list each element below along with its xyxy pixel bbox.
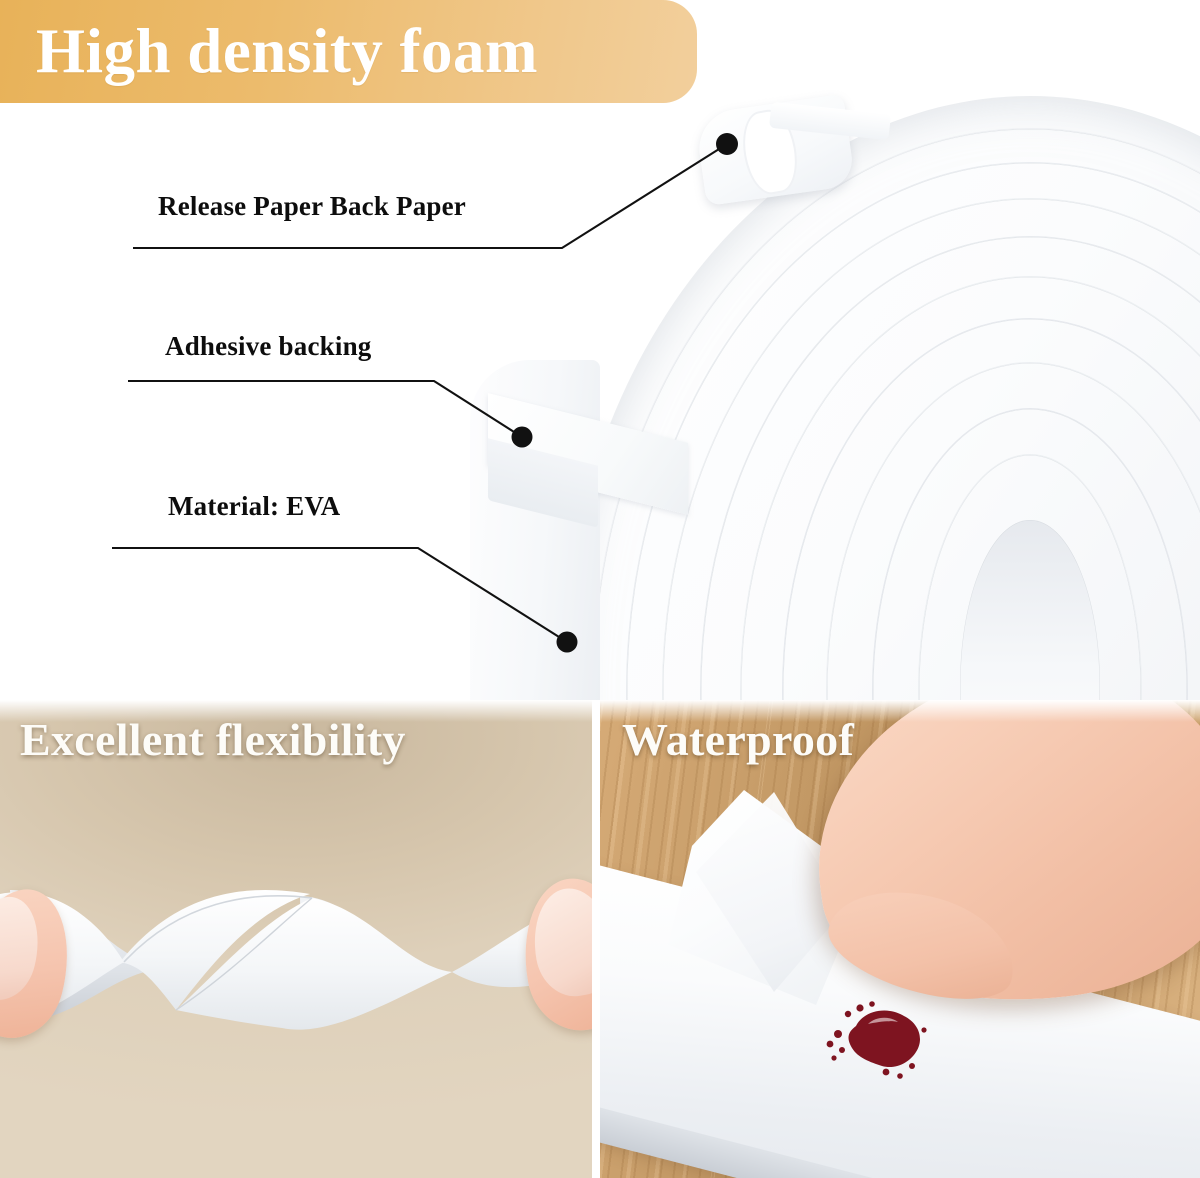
flexibility-panel: Excellent flexibility [0, 700, 592, 1178]
flexibility-panel-title: Excellent flexibility [20, 716, 406, 764]
red-liquid-spill [812, 1000, 950, 1082]
waterproof-panel: Waterproof [600, 700, 1200, 1178]
twisted-foam-strip [0, 850, 592, 1120]
callout-label-release-paper: Release Paper Back Paper [158, 191, 466, 222]
product-infographic: High density foam Release Paper Back Pap… [0, 0, 1200, 1178]
section-title-banner: High density foam [0, 0, 697, 103]
callout-label-material: Material: EVA [168, 491, 340, 522]
page-title: High density foam [36, 20, 538, 83]
bottom-feature-panels: Excellent flexibility [0, 700, 1200, 1178]
waterproof-panel-title: Waterproof [622, 716, 854, 764]
top-product-diagram-section: High density foam Release Paper Back Pap… [0, 0, 1200, 700]
callout-label-adhesive-backing: Adhesive backing [165, 331, 372, 362]
